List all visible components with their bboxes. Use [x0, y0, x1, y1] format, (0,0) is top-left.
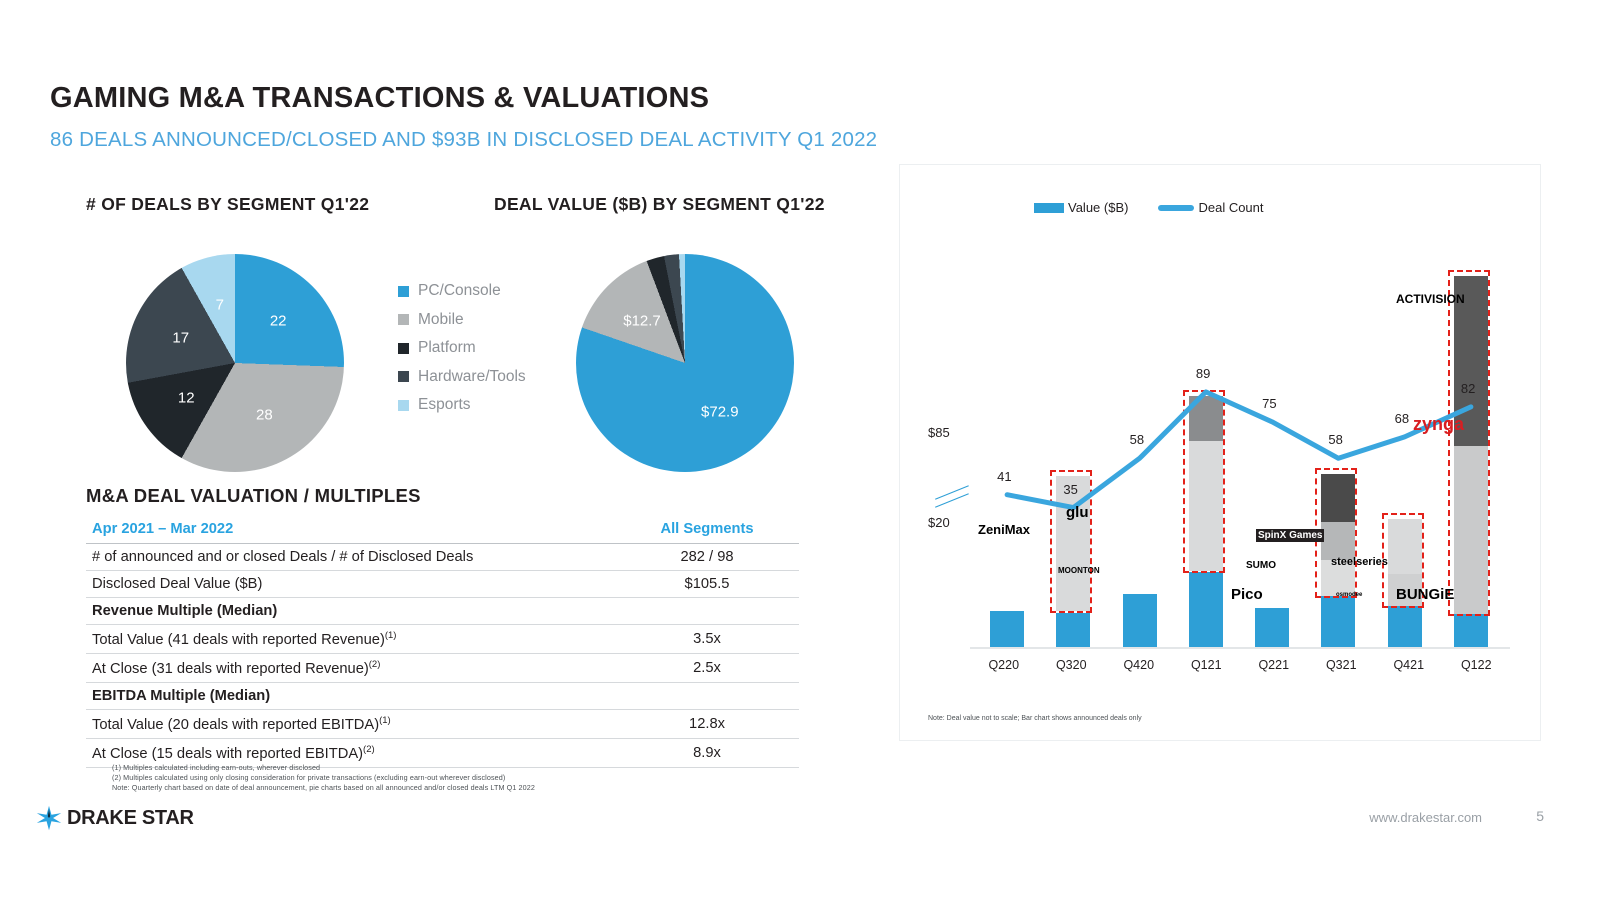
deal-count-label: 41 [997, 469, 1011, 484]
company-logo: SpinX Games [1256, 529, 1324, 542]
company-logo: MOONTON [1058, 566, 1100, 575]
page-title: GAMING M&A TRANSACTIONS & VALUATIONS [50, 82, 709, 115]
legend-swatch-icon [398, 343, 409, 354]
deal-count-label: 68 [1395, 411, 1409, 426]
table-cell-value [621, 682, 799, 709]
legend-label: Platform [418, 339, 476, 357]
segment-legend: PC/Console Mobile Platform Hardware/Tool… [398, 277, 526, 420]
table-header-period: Apr 2021 – Mar 2022 [86, 516, 621, 544]
footnote-marker: (1) [379, 715, 391, 726]
company-logo: osmodee [1336, 592, 1362, 598]
deal-count-label: 82 [1461, 381, 1475, 396]
legend-swatch-icon [398, 371, 409, 382]
table-cell-label: Disclosed Deal Value ($B) [86, 571, 621, 598]
table-cell-label: Total Value (41 deals with reported Reve… [86, 625, 621, 654]
table-cell-label: # of announced and or closed Deals / # o… [86, 544, 621, 571]
company-logo: ACTIVISION [1396, 292, 1465, 306]
company-logo: zynga [1413, 414, 1464, 435]
deals-pie-heading: # OF DEALS BY SEGMENT Q1'22 [86, 194, 369, 215]
company-logo: steelseries [1331, 556, 1388, 568]
table-row: # of announced and or closed Deals / # o… [86, 544, 799, 571]
page-subtitle: 86 DEALS ANNOUNCED/CLOSED AND $93B IN DI… [50, 128, 877, 152]
table-cell-value: $105.5 [621, 571, 799, 598]
legend-item-esports[interactable]: Esports [398, 391, 526, 420]
valuation-multiples-heading: M&A DEAL VALUATION / MULTIPLES [86, 485, 421, 507]
page-number: 5 [1536, 808, 1544, 824]
table-row: Total Value (20 deals with reported EBIT… [86, 709, 799, 738]
footnote-3: Note: Quarterly chart based on date of d… [112, 783, 535, 792]
footnote-marker: (2) [369, 659, 381, 670]
chart-note: Note: Deal value not to scale; Bar chart… [928, 715, 1142, 722]
valuation-multiples-table: Apr 2021 – Mar 2022All Segments# of anno… [86, 516, 799, 768]
legend-item-mobile[interactable]: Mobile [398, 306, 526, 335]
table-cell-value: 282 / 98 [621, 544, 799, 571]
table-header-segments: All Segments [621, 516, 799, 544]
quarterly-chart-panel: Value ($B) Deal Count $85 $20 Q220Q320Q4… [900, 165, 1540, 740]
table-cell-label: Total Value (20 deals with reported EBIT… [86, 709, 621, 738]
table-cell-value: 3.5x [621, 625, 799, 654]
table-cell-value: 12.8x [621, 709, 799, 738]
table-row: Disclosed Deal Value ($B)$105.5 [86, 571, 799, 598]
star-icon [36, 805, 62, 831]
table-row: Total Value (41 deals with reported Reve… [86, 625, 799, 654]
table-row: EBITDA Multiple (Median) [86, 682, 799, 709]
legend-swatch-icon [398, 286, 409, 297]
quarterly-chart: Value ($B) Deal Count $85 $20 Q220Q320Q4… [926, 174, 1514, 706]
legend-label: Hardware/Tools [418, 368, 526, 386]
table-row: Revenue Multiple (Median) [86, 598, 799, 625]
table-row: At Close (31 deals with reported Revenue… [86, 653, 799, 682]
drake-star-logo: DRAKE STAR [36, 805, 194, 831]
legend-label: Mobile [418, 311, 464, 329]
deal-count-line [926, 174, 1514, 706]
legend-item-platform[interactable]: Platform [398, 334, 526, 363]
legend-swatch-icon [398, 314, 409, 325]
company-logo: Pico [1231, 586, 1263, 603]
footnote-marker: (1) [385, 630, 397, 641]
legend-label: PC/Console [418, 282, 501, 300]
table-cell-value [621, 598, 799, 625]
value-pie-heading: DEAL VALUE ($B) BY SEGMENT Q1'22 [494, 194, 825, 215]
deal-count-label: 58 [1130, 432, 1144, 447]
value-by-segment-pie [576, 254, 794, 472]
company-logo: BUNGiE [1396, 586, 1454, 603]
footnote-1: (1) Multiples calculated including earn-… [112, 763, 320, 772]
table-cell-value: 2.5x [621, 653, 799, 682]
table-cell-label: Revenue Multiple (Median) [86, 598, 621, 625]
table-cell-value: 8.9x [621, 738, 799, 767]
deals-by-segment-pie [126, 254, 344, 472]
deal-count-label: 58 [1328, 432, 1342, 447]
footnote-marker: (2) [363, 744, 375, 755]
table-header-row: Apr 2021 – Mar 2022All Segments [86, 516, 799, 544]
legend-item-pc-console[interactable]: PC/Console [398, 277, 526, 306]
deal-count-label: 35 [1063, 482, 1077, 497]
deal-count-label: 89 [1196, 366, 1210, 381]
footnote-2: (2) Multiples calculated using only clos… [112, 773, 505, 782]
legend-item-hardware-tools[interactable]: Hardware/Tools [398, 363, 526, 392]
website-link[interactable]: www.drakestar.com [1369, 810, 1482, 825]
company-logo: SUMO [1246, 560, 1276, 571]
legend-label: Esports [418, 396, 471, 414]
company-logo: glu [1066, 504, 1089, 521]
table-cell-label: EBITDA Multiple (Median) [86, 682, 621, 709]
slide: GAMING M&A TRANSACTIONS & VALUATIONS 86 … [0, 0, 1600, 900]
company-logo: ZeniMax [978, 522, 1030, 537]
deal-count-label: 75 [1262, 396, 1276, 411]
legend-swatch-icon [398, 400, 409, 411]
brand-name: DRAKE STAR [67, 807, 194, 830]
table-cell-label: At Close (31 deals with reported Revenue… [86, 653, 621, 682]
